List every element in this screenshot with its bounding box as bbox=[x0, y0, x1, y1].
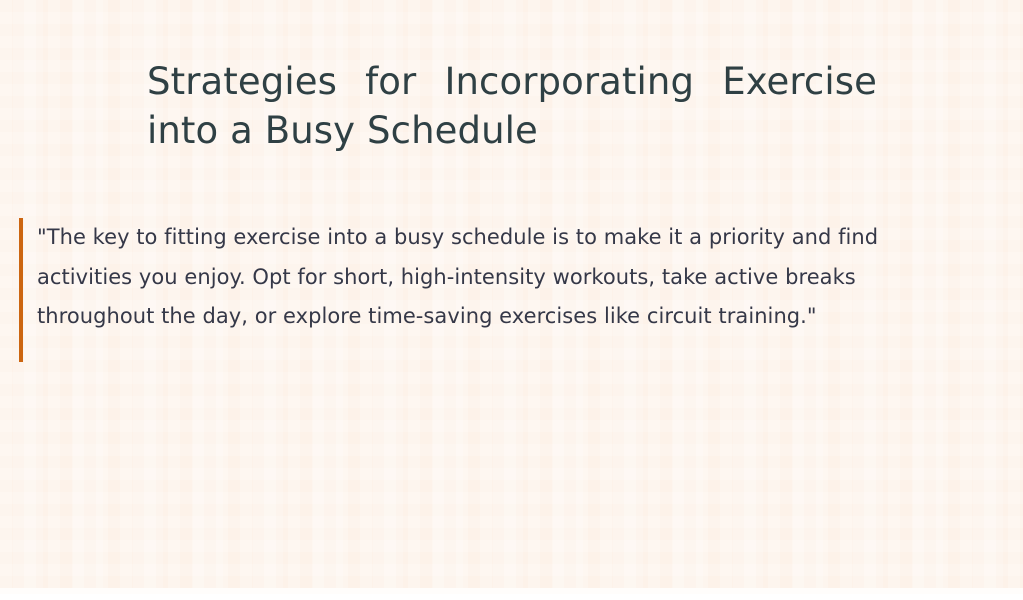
slide-canvas: Strategies for Incorporating Exercise in… bbox=[0, 0, 1023, 594]
bottom-strip bbox=[0, 588, 1023, 594]
quote-block: "The key to fitting exercise into a busy… bbox=[19, 218, 949, 362]
page-title: Strategies for Incorporating Exercise in… bbox=[147, 57, 877, 155]
title-container: Strategies for Incorporating Exercise in… bbox=[147, 57, 877, 155]
quote-text: "The key to fitting exercise into a busy… bbox=[23, 218, 949, 362]
